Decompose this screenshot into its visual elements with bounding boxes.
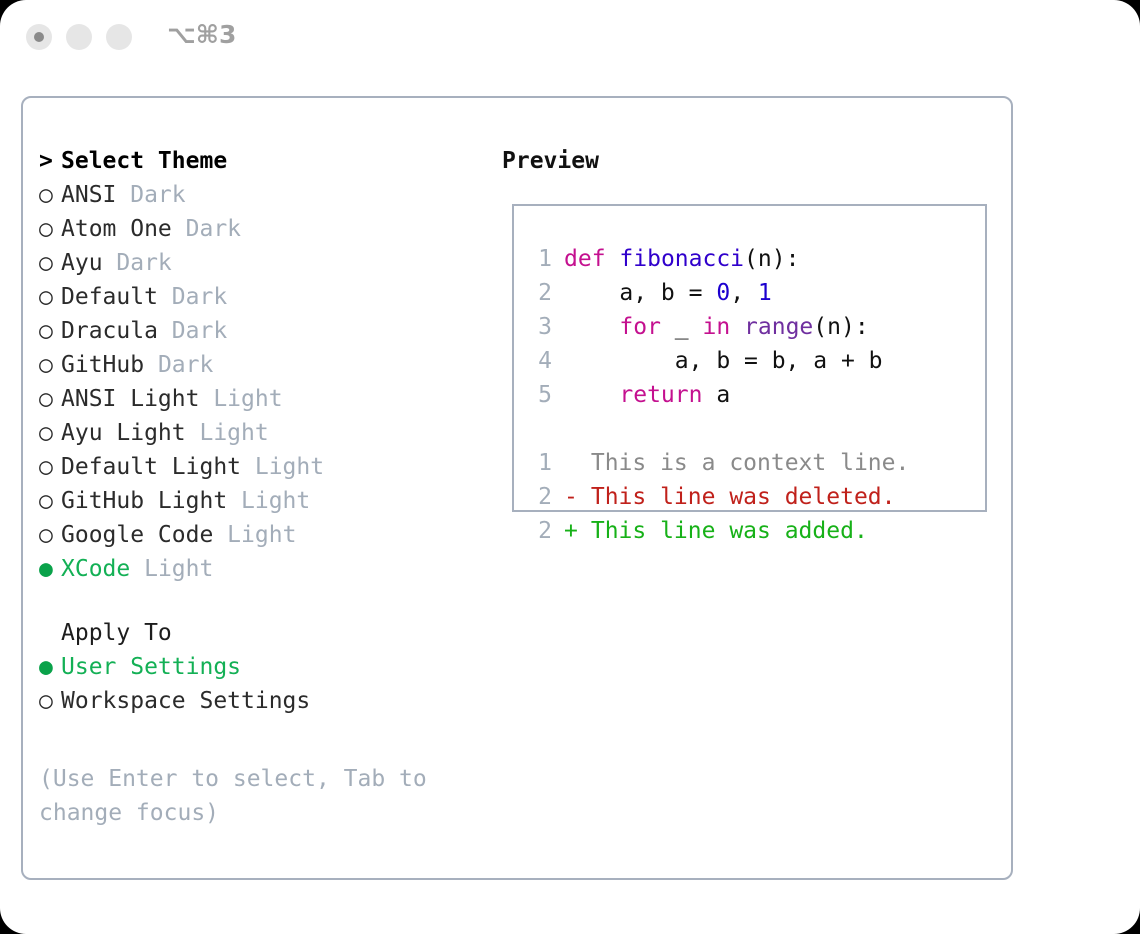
radio-unselected-icon: ○	[39, 246, 61, 280]
code-preview: 1def fibonacci(n):2 a, b = 0, 13 for _ i…	[530, 242, 909, 548]
theme-variant-label: Dark	[158, 284, 227, 310]
theme-name-label: GitHub	[61, 352, 144, 378]
theme-name-label: Ayu Light	[61, 420, 186, 446]
code-line-number: 3	[530, 310, 552, 344]
app-window: ⌥⌘3 >Select Theme ○ANSI Dark○Atom One Da…	[0, 0, 1140, 934]
theme-name-label: XCode	[61, 556, 130, 582]
main-panel: >Select Theme ○ANSI Dark○Atom One Dark○A…	[21, 96, 1013, 880]
theme-variant-label: Dark	[144, 352, 213, 378]
theme-variant-label: Light	[227, 488, 310, 514]
theme-list-item[interactable]: ○Atom One Dark	[39, 212, 469, 246]
code-token: def	[564, 246, 606, 272]
code-blank-line	[530, 412, 909, 446]
radio-unselected-icon: ○	[39, 280, 61, 314]
theme-name-label: Dracula	[61, 318, 158, 344]
radio-unselected-icon: ○	[39, 382, 61, 416]
code-line-number: 2	[530, 276, 552, 310]
code-line: 4 a, b = b, a + b	[530, 344, 909, 378]
apply-to-option[interactable]: ○Workspace Settings	[39, 684, 469, 718]
code-token: a, b =	[564, 280, 716, 306]
radio-selected-icon: ●	[39, 650, 61, 684]
theme-variant-label: Dark	[158, 318, 227, 344]
theme-name-label: GitHub Light	[61, 488, 227, 514]
theme-list-item[interactable]: ○Ayu Light Light	[39, 416, 469, 450]
radio-unselected-icon: ○	[39, 212, 61, 246]
radio-unselected-icon: ○	[39, 178, 61, 212]
theme-variant-label: Dark	[103, 250, 172, 276]
theme-list-item[interactable]: ○Dracula Dark	[39, 314, 469, 348]
apply-to-option-label: User Settings	[61, 654, 241, 680]
prompt-caret-icon: >	[39, 144, 61, 178]
theme-variant-label: Dark	[172, 216, 241, 242]
preview-title: Preview	[502, 148, 599, 174]
theme-variant-label: Light	[213, 522, 296, 548]
code-token: for	[619, 314, 661, 340]
code-token	[730, 314, 744, 340]
theme-list: ○ANSI Dark○Atom One Dark○Ayu Dark○Defaul…	[39, 178, 469, 586]
diff-line-number: 2	[530, 514, 552, 548]
code-token: 0	[716, 280, 730, 306]
theme-variant-label: Light	[186, 420, 269, 446]
code-line: 3 for _ in range(n):	[530, 310, 909, 344]
code-token: in	[702, 314, 730, 340]
list-spacer	[39, 586, 469, 616]
code-token	[564, 314, 619, 340]
theme-name-label: Default	[61, 284, 158, 310]
theme-selector-column: >Select Theme ○ANSI Dark○Atom One Dark○A…	[39, 144, 469, 718]
radio-unselected-icon: ○	[39, 416, 61, 450]
theme-name-label: Atom One	[61, 216, 172, 242]
select-theme-header: >Select Theme	[39, 144, 469, 178]
theme-name-label: Default Light	[61, 454, 241, 480]
radio-unselected-icon: ○	[39, 314, 61, 348]
close-dot-button[interactable]	[26, 24, 52, 50]
diff-sign: +	[564, 514, 577, 548]
radio-unselected-icon: ○	[39, 450, 61, 484]
preview-box: 1def fibonacci(n):2 a, b = 0, 13 for _ i…	[512, 204, 987, 512]
code-token: _	[661, 314, 703, 340]
code-token: ,	[730, 280, 758, 306]
code-line: 5 return a	[530, 378, 909, 412]
code-token: 1	[758, 280, 772, 306]
theme-name-label: ANSI	[61, 182, 116, 208]
theme-list-item[interactable]: ○Ayu Dark	[39, 246, 469, 280]
code-token	[564, 382, 619, 408]
theme-list-item[interactable]: ○Default Light Light	[39, 450, 469, 484]
theme-name-label: Google Code	[61, 522, 213, 548]
theme-name-label: Ayu	[61, 250, 103, 276]
diff-text: This line was added.	[577, 518, 868, 544]
keyboard-hint-text: (Use Enter to select, Tab to change focu…	[39, 762, 459, 830]
code-token: return	[619, 382, 702, 408]
theme-variant-label: Light	[199, 386, 282, 412]
code-token: (n):	[813, 314, 868, 340]
code-line-number: 5	[530, 378, 552, 412]
theme-variant-label: Light	[130, 556, 213, 582]
diff-line-number: 2	[530, 480, 552, 514]
radio-unselected-icon: ○	[39, 348, 61, 382]
code-token: fibonacci	[619, 246, 744, 272]
diff-line: 2- This line was deleted.	[530, 480, 909, 514]
code-line-number: 4	[530, 344, 552, 378]
theme-list-item[interactable]: ○GitHub Light Light	[39, 484, 469, 518]
theme-variant-label: Dark	[116, 182, 185, 208]
code-line-number: 1	[530, 242, 552, 276]
apply-to-list: ●User Settings○Workspace Settings	[39, 650, 469, 718]
theme-list-item[interactable]: ○Google Code Light	[39, 518, 469, 552]
diff-text: This line was deleted.	[577, 484, 896, 510]
code-token: range	[744, 314, 813, 340]
code-token: a, b = b, a + b	[564, 348, 883, 374]
radio-selected-icon: ●	[39, 552, 61, 586]
apply-to-option-label: Workspace Settings	[61, 688, 310, 714]
radio-unselected-icon: ○	[39, 684, 61, 718]
code-line: 2 a, b = 0, 1	[530, 276, 909, 310]
minimize-dot-button[interactable]	[66, 24, 92, 50]
code-token	[606, 246, 620, 272]
diff-text: This is a context line.	[577, 450, 909, 476]
theme-list-item[interactable]: ●XCode Light	[39, 552, 469, 586]
keyboard-shortcut-label: ⌥⌘3	[167, 20, 236, 49]
theme-name-label: ANSI Light	[61, 386, 199, 412]
code-token: a	[702, 382, 730, 408]
maximize-dot-button[interactable]	[106, 24, 132, 50]
apply-to-title: Apply To	[39, 616, 469, 650]
theme-list-item[interactable]: ○Default Dark	[39, 280, 469, 314]
diff-line: 2+ This line was added.	[530, 514, 909, 548]
theme-variant-label: Light	[241, 454, 324, 480]
diff-line-number: 1	[530, 446, 552, 480]
radio-unselected-icon: ○	[39, 518, 61, 552]
select-theme-label: Select Theme	[61, 148, 227, 174]
diff-line: 1 This is a context line.	[530, 446, 909, 480]
code-token: (n):	[744, 246, 799, 272]
diff-sign	[564, 446, 577, 480]
close-dot-inner-icon	[34, 32, 44, 42]
radio-unselected-icon: ○	[39, 484, 61, 518]
code-line: 1def fibonacci(n):	[530, 242, 909, 276]
apply-to-option[interactable]: ●User Settings	[39, 650, 469, 684]
title-bar: ⌥⌘3	[0, 0, 1140, 80]
theme-list-item[interactable]: ○GitHub Dark	[39, 348, 469, 382]
theme-list-item[interactable]: ○ANSI Dark	[39, 178, 469, 212]
diff-sign: -	[564, 480, 577, 514]
theme-list-item[interactable]: ○ANSI Light Light	[39, 382, 469, 416]
